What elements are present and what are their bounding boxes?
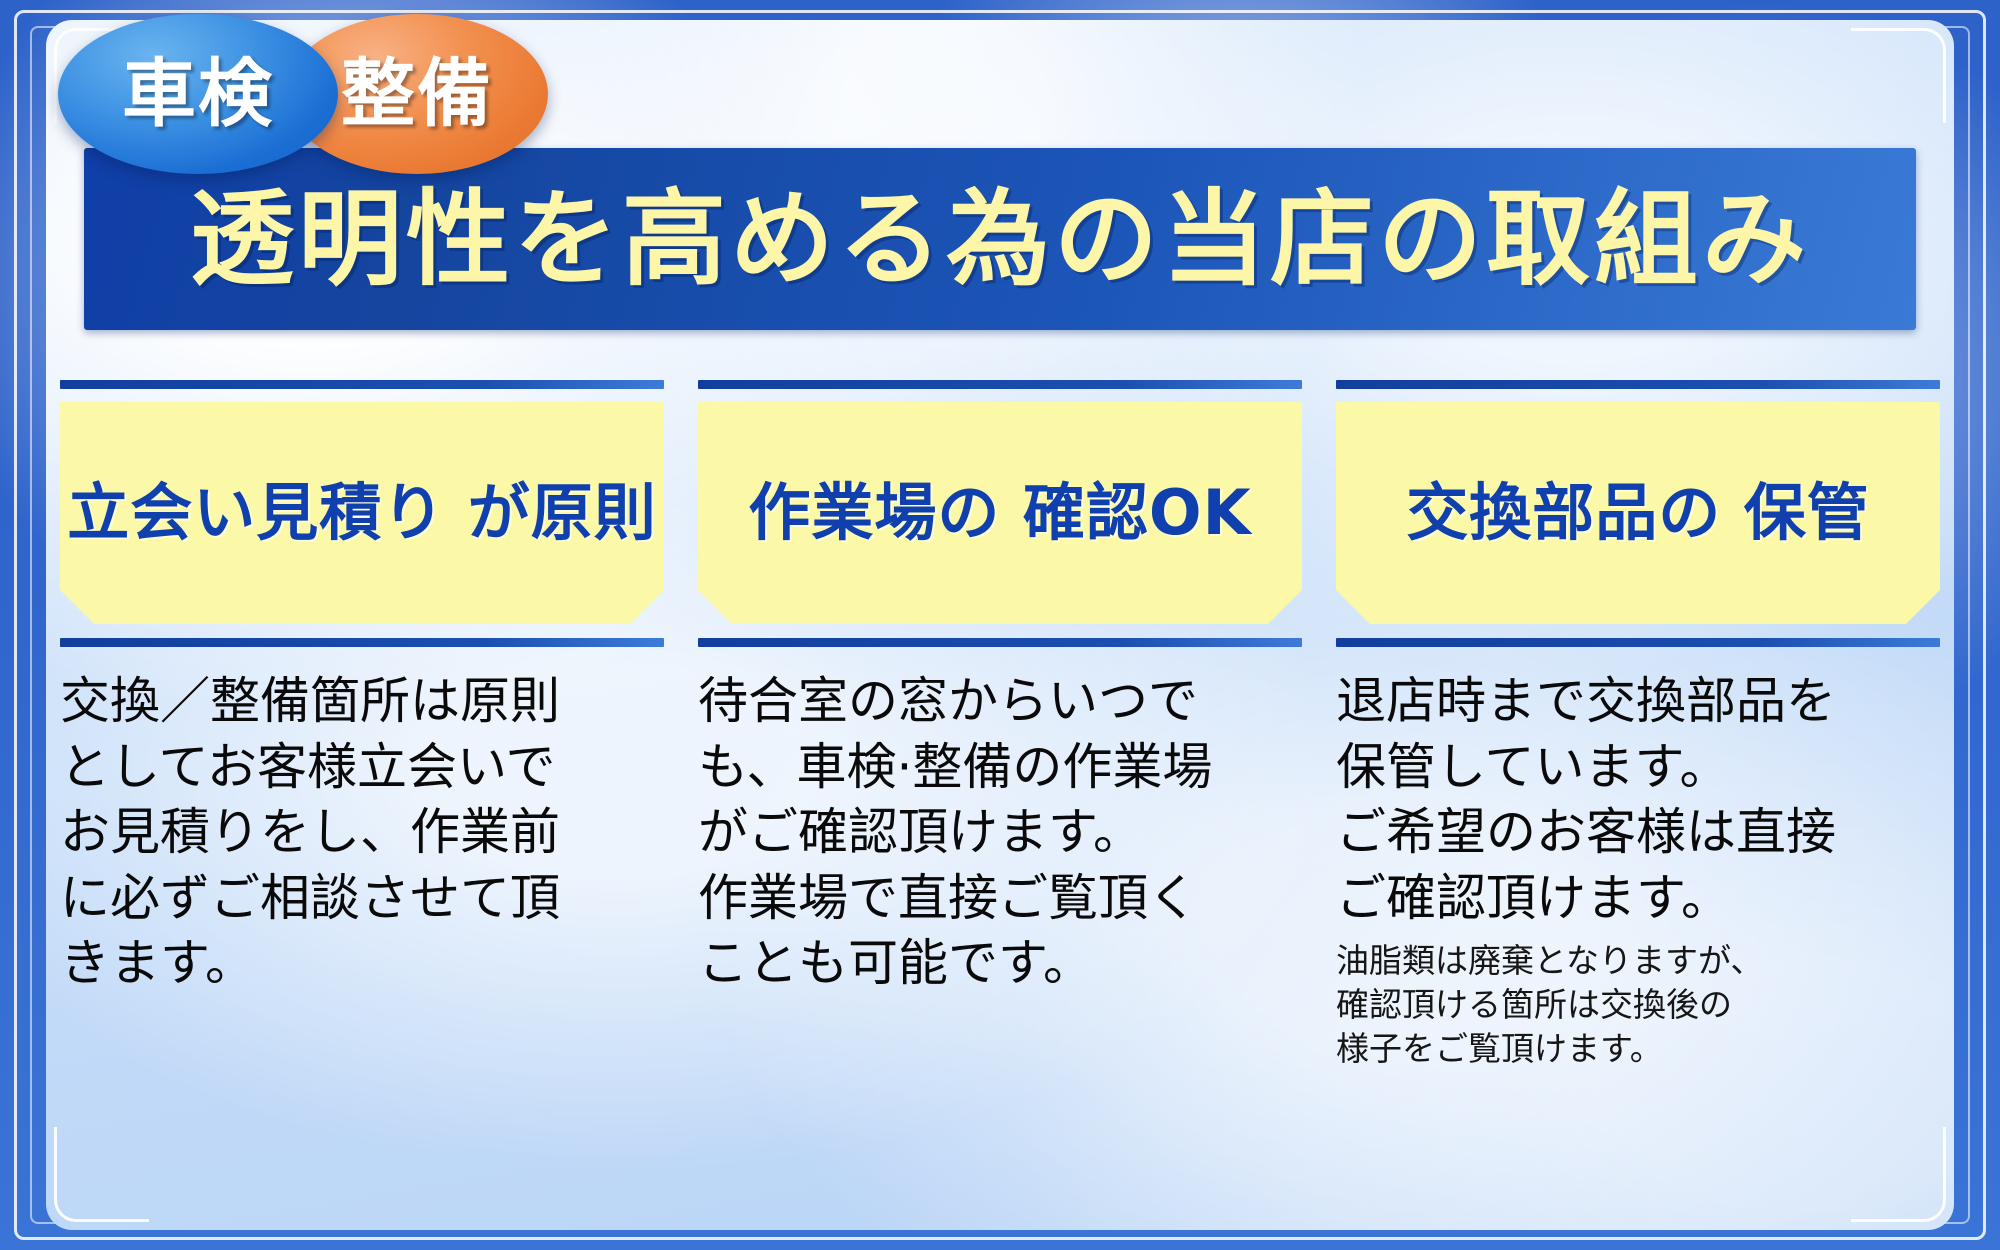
column-1-heading-box: 立会い見積り が原則: [60, 402, 664, 624]
badge-seibi-label: 整備: [341, 57, 493, 131]
column-2-body: 待合室の窓からいつで も、車検·整備の作業場 がご確認頂けます。 作業場で直接ご…: [698, 669, 1302, 997]
column-1-bottom-rule: [60, 638, 664, 647]
page-title: 透明性を高める為の当店の取組み: [190, 187, 1810, 291]
column-3-heading-box: 交換部品の 保管: [1336, 402, 1940, 624]
feature-column-3: 交換部品の 保管 退店時まで交換部品を 保管しています。 ご希望のお客様は直接 …: [1336, 380, 1940, 1200]
column-2-bottom-rule: [698, 638, 1302, 647]
column-3-top-rule: [1336, 380, 1940, 389]
corner-ornament-top-right: [1851, 28, 1946, 123]
column-3-fine-print: 油脂類は廃棄となりますが、 確認頂ける箇所は交換後の 様子をご覧頂けます。: [1336, 939, 1940, 1072]
feature-columns: 立会い見積り が原則 交換／整備箇所は原則 としてお客様立会いで お見積りをし、…: [60, 380, 1940, 1200]
badge-shaken: 車検: [58, 14, 338, 174]
column-3-bottom-rule: [1336, 638, 1940, 647]
badge-shaken-label: 車検: [122, 57, 274, 131]
column-1-top-rule: [60, 380, 664, 389]
column-2-top-rule: [698, 380, 1302, 389]
column-1-body: 交換／整備箇所は原則 としてお客様立会いで お見積りをし、作業前 に必ずご相談さ…: [60, 669, 664, 997]
feature-column-2: 作業場の 確認OK 待合室の窓からいつで も、車検·整備の作業場 がご確認頂けま…: [698, 380, 1302, 1200]
column-2-heading-box: 作業場の 確認OK: [698, 402, 1302, 624]
column-3-body: 退店時まで交換部品を 保管しています。 ご希望のお客様は直接 ご確認頂けます。: [1336, 669, 1940, 931]
title-banner: 透明性を高める為の当店の取組み: [84, 148, 1916, 330]
column-2-heading: 作業場の 確認OK: [748, 478, 1251, 549]
column-3-heading: 交換部品の 保管: [1406, 478, 1870, 549]
poster-root: 透明性を高める為の当店の取組み 車検 整備 立会い見積り が原則 交換／整備箇所…: [0, 0, 2000, 1250]
column-1-heading: 立会い見積り が原則: [67, 478, 657, 549]
feature-column-1: 立会い見積り が原則 交換／整備箇所は原則 としてお客様立会いで お見積りをし、…: [60, 380, 664, 1200]
